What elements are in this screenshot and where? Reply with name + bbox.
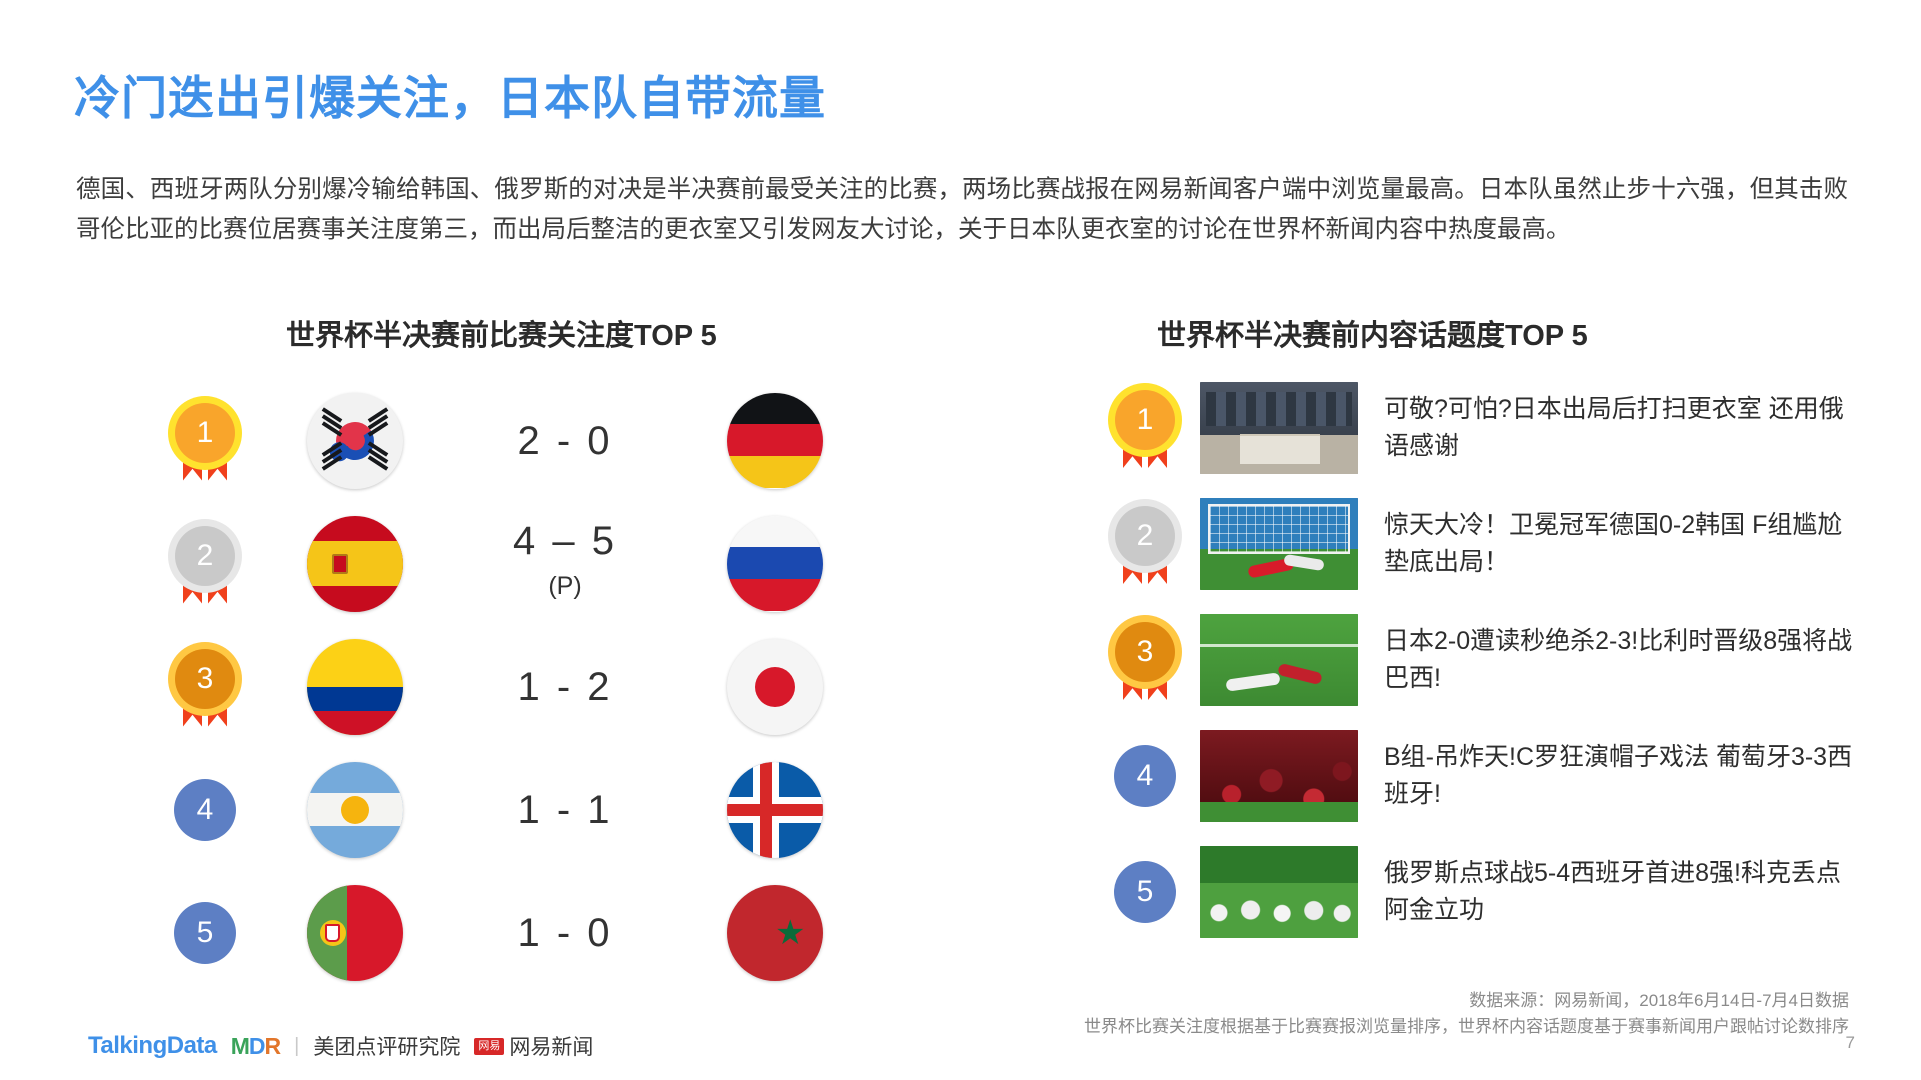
rank-badge-3: 3 (150, 632, 260, 742)
score-value: 1 - 0 (517, 911, 612, 955)
flag-iceland-icon (727, 762, 823, 858)
list-item[interactable]: 1 可敬?可怕?日本出局后打扫更衣室 还用俄语感谢 (1090, 380, 1890, 476)
list-item[interactable]: 5 俄罗斯点球战5-4西班牙首进8强!科克丢点阿金立功 (1090, 844, 1890, 940)
match-list: 1 2 (150, 380, 910, 995)
thumbnail-locker-room[interactable] (1200, 382, 1358, 474)
rank-number: 5 (1114, 861, 1176, 923)
talkingdata-logo: TalkingData (88, 1032, 217, 1060)
rank-number: 3 (1115, 622, 1175, 682)
mdr-r: R (265, 1033, 281, 1059)
rank-number: 1 (175, 403, 235, 463)
flag-germany-icon (727, 393, 823, 489)
match-score: 1 - 0 (450, 911, 680, 955)
rank-number: 1 (1115, 390, 1175, 450)
thumbnail-red-crowd[interactable] (1200, 730, 1358, 822)
flag-russia-icon (727, 516, 823, 612)
netease-news-logo: 网易 网易新闻 (474, 1031, 593, 1061)
rank-badge-4: 4 (150, 755, 260, 865)
right-section-heading: 世界杯半决赛前内容话题度TOP 5 (1157, 312, 1588, 354)
rank-number: 2 (1115, 506, 1175, 566)
rank-number: 4 (174, 779, 236, 841)
left-section-heading: 世界杯半决赛前比赛关注度TOP 5 (286, 312, 717, 354)
mdr-logo: MDR (231, 1033, 280, 1060)
rank-number: 4 (1114, 745, 1176, 807)
score-value: 2 - 0 (517, 419, 612, 463)
match-score: 4 – 5 (P) (450, 519, 680, 608)
rank-number: 3 (175, 649, 235, 709)
rank-badge-2: 2 (150, 509, 260, 619)
home-flag-cell (260, 393, 450, 489)
logo-separator: | (294, 1035, 299, 1058)
rank-badge-3: 3 (1090, 605, 1200, 715)
thumbnail-goal-save[interactable] (1200, 498, 1358, 590)
rank-number: 2 (175, 526, 235, 586)
table-row[interactable]: 1 2 (150, 380, 910, 501)
meituan-research-logo: 美团点评研究院 (313, 1031, 460, 1061)
match-score: 2 - 0 (450, 419, 680, 463)
away-flag-cell (680, 762, 870, 858)
topic-title: 俄罗斯点球战5-4西班牙首进8强!科克丢点阿金立功 (1384, 855, 1854, 929)
mdr-d: D (249, 1033, 265, 1059)
page-number: 7 (1846, 1033, 1855, 1053)
home-flag-cell (260, 516, 450, 612)
slide: 冷门迭出引爆关注，日本队自带流量 德国、西班牙两队分别爆冷输给韩国、俄罗斯的对决… (0, 0, 1921, 1080)
source-note: 数据来源：网易新闻，2018年6月14日-7月4日数据 世界杯比赛关注度根据基于… (1084, 988, 1849, 1040)
rank-badge-1: 1 (1090, 373, 1200, 483)
topic-title: 可敬?可怕?日本出局后打扫更衣室 还用俄语感谢 (1384, 391, 1854, 465)
table-row[interactable]: 4 1 - 1 (150, 749, 910, 870)
flag-argentina-icon (307, 762, 403, 858)
rank-badge-5: 5 (1090, 837, 1200, 947)
topic-title: B组-吊炸天!C罗狂演帽子戏法 葡萄牙3-3西班牙! (1384, 739, 1854, 813)
flag-spain-icon (307, 516, 403, 612)
score-value: 1 - 1 (517, 788, 612, 832)
away-flag-cell: ★ (680, 885, 870, 981)
page-title: 冷门迭出引爆关注，日本队自带流量 (74, 62, 826, 128)
flag-japan-icon (727, 639, 823, 735)
netease-badge-icon: 网易 (474, 1038, 504, 1055)
flag-colombia-icon (307, 639, 403, 735)
source-line-1: 数据来源：网易新闻，2018年6月14日-7月4日数据 (1084, 988, 1849, 1014)
flag-morocco-icon: ★ (727, 885, 823, 981)
source-line-2: 世界杯比赛关注度根据基于比赛赛报浏览量排序，世界杯内容话题度基于赛事新闻用户跟帖… (1084, 1014, 1849, 1040)
rank-number: 5 (174, 902, 236, 964)
match-score: 1 - 1 (450, 788, 680, 832)
home-flag-cell (260, 639, 450, 735)
mdr-m: M (231, 1033, 249, 1059)
home-flag-cell (260, 885, 450, 981)
table-row[interactable]: 3 1 - 2 (150, 626, 910, 747)
rank-badge-2: 2 (1090, 489, 1200, 599)
rank-badge-1: 1 (150, 386, 260, 496)
rank-badge-5: 5 (150, 878, 260, 988)
flag-south-korea-icon (307, 393, 403, 489)
thumbnail-pitch-tackle[interactable] (1200, 614, 1358, 706)
away-flag-cell (680, 393, 870, 489)
topic-list: 1 可敬?可怕?日本出局后打扫更衣室 还用俄语感谢 2 惊天大冷！卫冕冠军德国0… (1090, 380, 1890, 960)
list-item[interactable]: 3 日本2-0遭读秒绝杀2-3!比利时晋级8强将战巴西! (1090, 612, 1890, 708)
flag-portugal-icon (307, 885, 403, 981)
topic-title: 日本2-0遭读秒绝杀2-3!比利时晋级8强将战巴西! (1384, 623, 1854, 697)
netease-label: 网易新闻 (509, 1031, 593, 1061)
table-row[interactable]: 2 4 – 5 (P) (150, 503, 910, 624)
score-value: 1 - 2 (517, 665, 612, 709)
table-row[interactable]: 5 1 - 0 ★ (150, 872, 910, 993)
home-flag-cell (260, 762, 450, 858)
topic-title: 惊天大冷！卫冕冠军德国0-2韩国 F组尴尬垫底出局！ (1384, 507, 1854, 581)
match-score: 1 - 2 (450, 665, 680, 709)
intro-paragraph: 德国、西班牙两队分别爆冷输给韩国、俄罗斯的对决是半决赛前最受关注的比赛，两场比赛… (76, 170, 1848, 250)
away-flag-cell (680, 516, 870, 612)
rank-badge-4: 4 (1090, 721, 1200, 831)
score-note: (P) (450, 564, 680, 608)
footer-logos: TalkingData MDR | 美团点评研究院 网易 网易新闻 (88, 1031, 593, 1061)
away-flag-cell (680, 639, 870, 735)
list-item[interactable]: 2 惊天大冷！卫冕冠军德国0-2韩国 F组尴尬垫底出局！ (1090, 496, 1890, 592)
score-value: 4 – 5 (513, 519, 617, 563)
thumbnail-celebration[interactable] (1200, 846, 1358, 938)
list-item[interactable]: 4 B组-吊炸天!C罗狂演帽子戏法 葡萄牙3-3西班牙! (1090, 728, 1890, 824)
